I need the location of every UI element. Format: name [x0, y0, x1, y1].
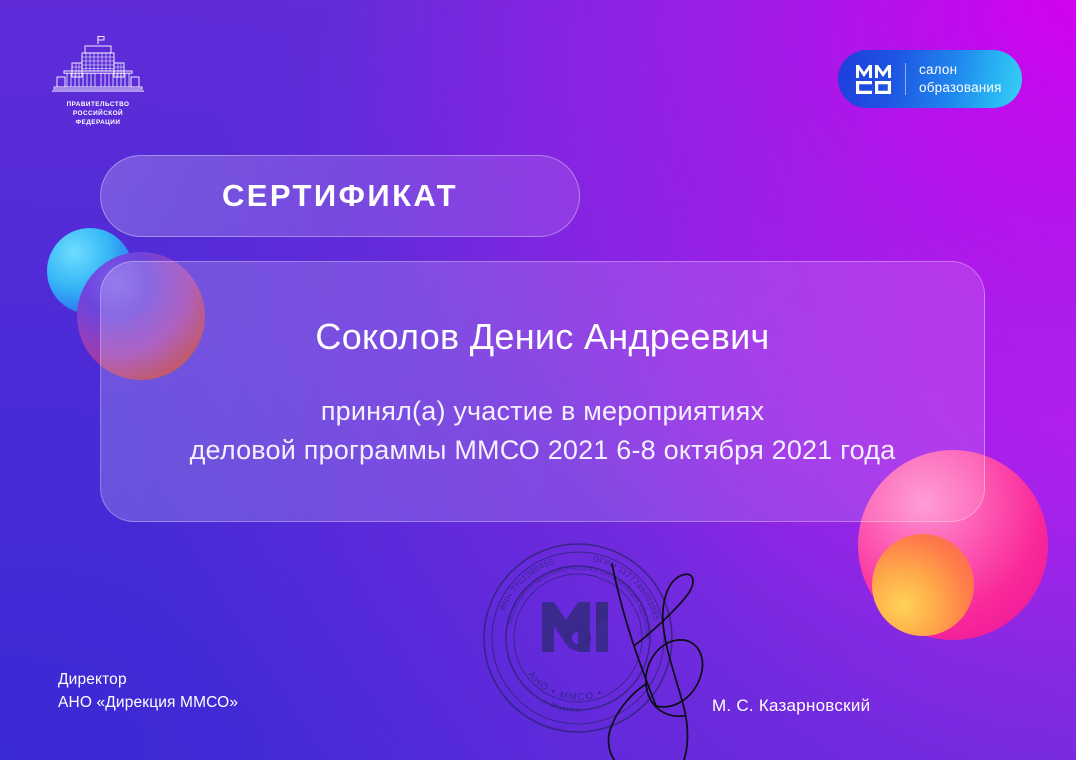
mmco-divider: [905, 63, 906, 95]
mmco-word-education: образования: [919, 79, 1002, 97]
gov-logo-line-1: ПРАВИТЕЛЬСТВО: [48, 100, 148, 109]
certificate-body-card: Соколов Денис Андреевич принял(а) участи…: [100, 261, 985, 522]
mmco-logo-badge: салон образования: [838, 50, 1022, 108]
gov-logo-line-2: РОССИЙСКОЙ: [48, 109, 148, 118]
mmco-word-salon: салон: [919, 61, 1002, 79]
certificate-canvas: ПРАВИТЕЛЬСТВО РОССИЙСКОЙ ФЕДЕРАЦИИ салон: [0, 0, 1076, 760]
page-title: СЕРТИФИКАТ: [222, 178, 458, 214]
body-line-2: деловой программы ММСО 2021 6-8 октября …: [190, 431, 896, 470]
body-line-1: принял(а) участие в мероприятиях: [190, 392, 896, 431]
handwritten-signature: [560, 560, 760, 760]
signature-block: Директор АНО «Дирекция ММСО»: [58, 668, 238, 715]
gov-logo-line-3: ФЕДЕРАЦИИ: [48, 118, 148, 127]
mmco-wordmark-icon: [856, 65, 891, 94]
certificate-title-card: СЕРТИФИКАТ: [100, 155, 580, 237]
government-building-icon: [48, 35, 148, 97]
signer-name: М. С. Казарновский: [712, 696, 870, 716]
signer-organization: АНО «Дирекция ММСО»: [58, 691, 238, 714]
recipient-name: Соколов Денис Андреевич: [315, 316, 769, 358]
government-logo: ПРАВИТЕЛЬСТВО РОССИЙСКОЙ ФЕДЕРАЦИИ: [48, 35, 148, 127]
decorative-sphere-orange: [872, 534, 974, 636]
signer-role: Директор: [58, 668, 238, 691]
certificate-body-text: принял(а) участие в мероприятиях деловой…: [190, 392, 896, 470]
